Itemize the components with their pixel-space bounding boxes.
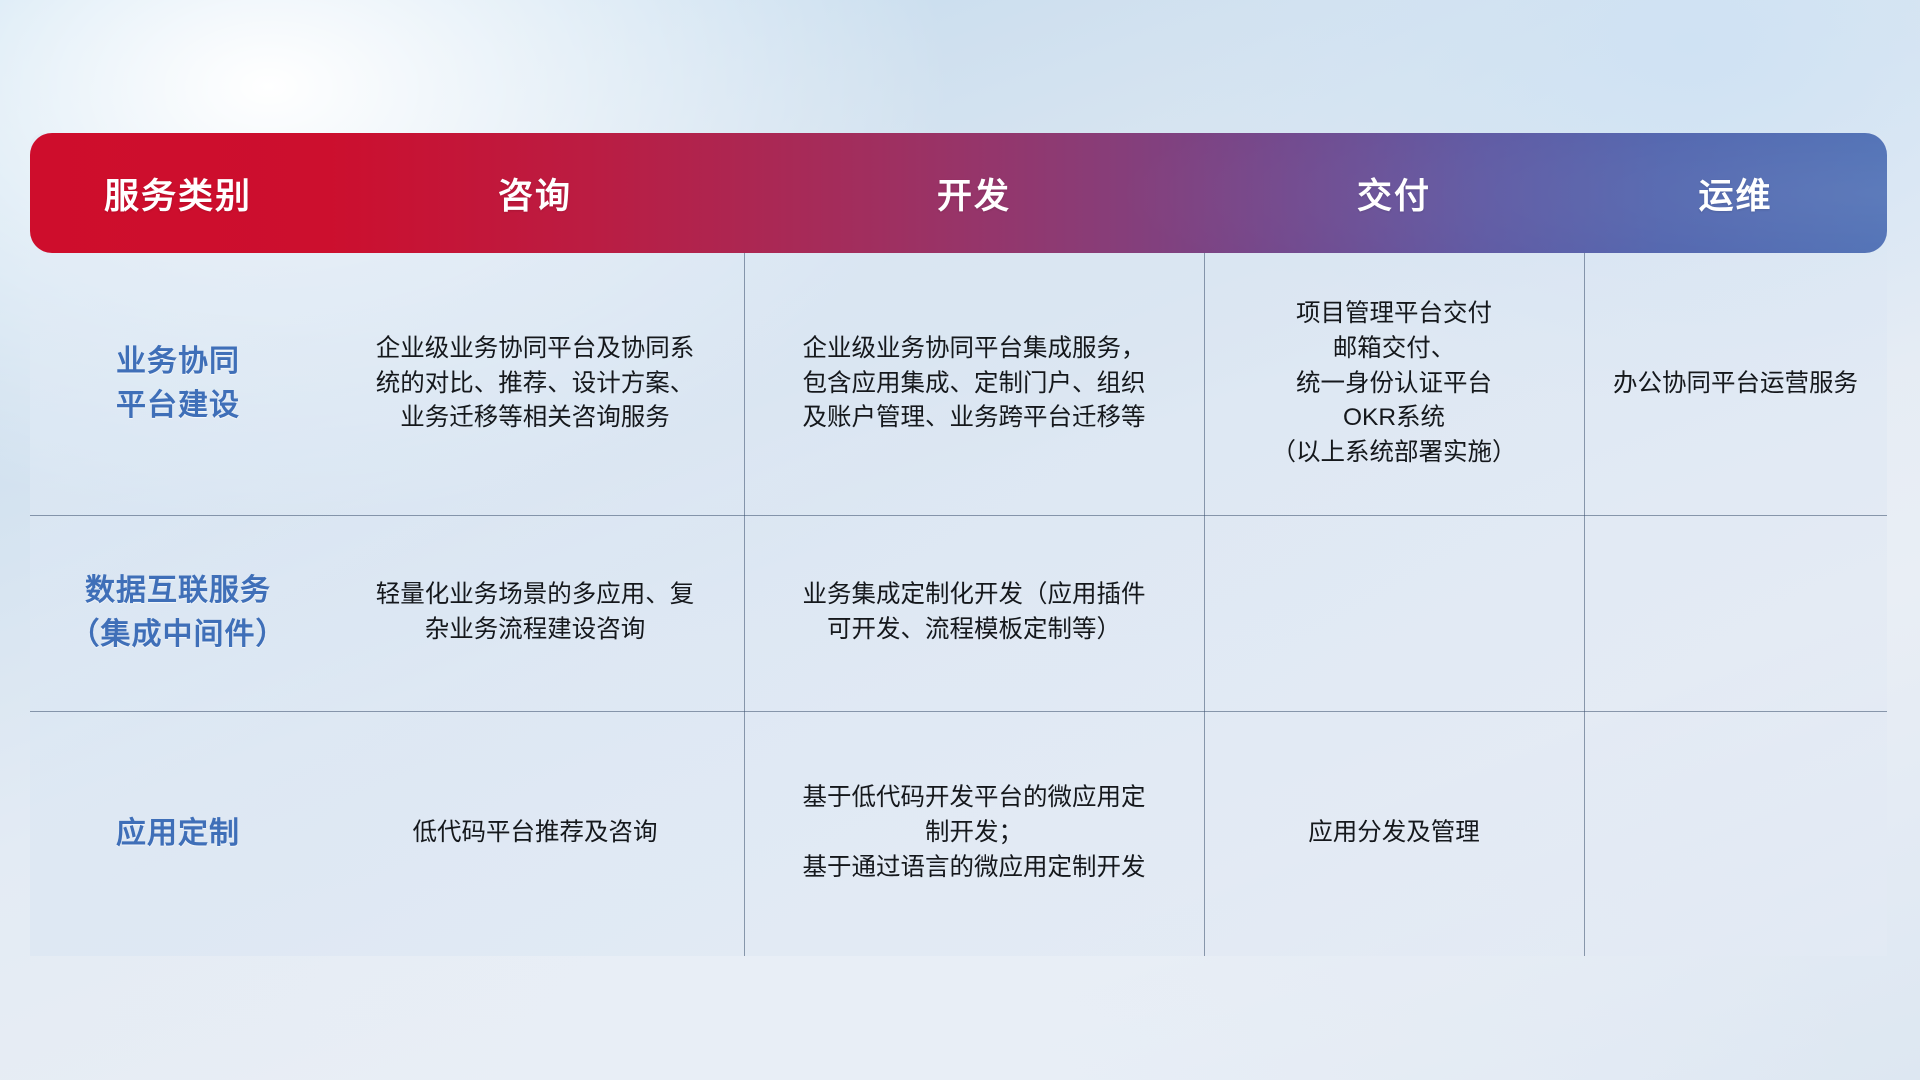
column-header-operations: 运维 bbox=[1584, 133, 1887, 253]
cell-text: 基于低代码开发平台的微应用定 制开发； 基于通过语言的微应用定制开发 bbox=[803, 781, 1146, 885]
cell-text: 应用分发及管理 bbox=[1308, 816, 1480, 851]
column-header-label: 交付 bbox=[1357, 168, 1431, 219]
table-header-row: 服务类别 咨询 开发 交付 运维 bbox=[30, 133, 1887, 253]
row-category-label: 业务协同 平台建设 bbox=[116, 340, 240, 428]
cell-text: 办公协同平台运营服务 bbox=[1613, 367, 1858, 402]
cell-delivery bbox=[1204, 515, 1584, 711]
row-category-cell: 业务协同 平台建设 bbox=[30, 253, 326, 515]
cell-consulting: 低代码平台推荐及咨询 bbox=[326, 711, 744, 956]
cell-text: 企业级业务协同平台集成服务， 包含应用集成、定制门户、组织 及账户管理、业务跨平… bbox=[803, 332, 1146, 436]
row-category-label: 应用定制 bbox=[116, 812, 240, 856]
cell-text: 企业级业务协同平台及协同系 统的对比、推荐、设计方案、 业务迁移等相关咨询服务 bbox=[376, 332, 695, 436]
row-category-label: 数据互联服务 （集成中间件） bbox=[70, 569, 287, 657]
column-header-delivery: 交付 bbox=[1204, 133, 1584, 253]
cell-development: 基于低代码开发平台的微应用定 制开发； 基于通过语言的微应用定制开发 bbox=[744, 711, 1204, 956]
cell-development: 业务集成定制化开发（应用插件 可开发、流程模板定制等） bbox=[744, 515, 1204, 711]
table-row: 应用定制 低代码平台推荐及咨询 基于低代码开发平台的微应用定 制开发； 基于通过… bbox=[30, 711, 1887, 956]
cell-text: 项目管理平台交付 邮箱交付、 统一身份认证平台 OKR系统 （以上系统部署实施） bbox=[1272, 297, 1517, 471]
cell-text: 轻量化业务场景的多应用、复 杂业务流程建设咨询 bbox=[376, 578, 695, 648]
column-header-consulting: 咨询 bbox=[326, 133, 744, 253]
cell-consulting: 企业级业务协同平台及协同系 统的对比、推荐、设计方案、 业务迁移等相关咨询服务 bbox=[326, 253, 744, 515]
cell-operations: 办公协同平台运营服务 bbox=[1584, 253, 1887, 515]
cell-operations bbox=[1584, 711, 1887, 956]
cell-text: 低代码平台推荐及咨询 bbox=[413, 816, 658, 851]
table-row: 数据互联服务 （集成中间件） 轻量化业务场景的多应用、复 杂业务流程建设咨询 业… bbox=[30, 515, 1887, 711]
column-header-label: 咨询 bbox=[498, 168, 572, 219]
table-body: 业务协同 平台建设 企业级业务协同平台及协同系 统的对比、推荐、设计方案、 业务… bbox=[30, 253, 1887, 956]
slide-canvas: 服务类别 咨询 开发 交付 运维 业务协同 平台建设 bbox=[0, 0, 1920, 1080]
service-matrix-table: 服务类别 咨询 开发 交付 运维 业务协同 平台建设 bbox=[30, 133, 1887, 956]
cell-consulting: 轻量化业务场景的多应用、复 杂业务流程建设咨询 bbox=[326, 515, 744, 711]
column-header-label: 运维 bbox=[1698, 168, 1772, 219]
table-row: 业务协同 平台建设 企业级业务协同平台及协同系 统的对比、推荐、设计方案、 业务… bbox=[30, 253, 1887, 515]
service-matrix-table-wrapper: 服务类别 咨询 开发 交付 运维 业务协同 平台建设 bbox=[30, 133, 1887, 956]
cell-text: 业务集成定制化开发（应用插件 可开发、流程模板定制等） bbox=[803, 578, 1146, 648]
cell-development: 企业级业务协同平台集成服务， 包含应用集成、定制门户、组织 及账户管理、业务跨平… bbox=[744, 253, 1204, 515]
row-category-cell: 应用定制 bbox=[30, 711, 326, 956]
cell-delivery: 应用分发及管理 bbox=[1204, 711, 1584, 956]
column-header-label: 服务类别 bbox=[104, 168, 252, 219]
row-category-cell: 数据互联服务 （集成中间件） bbox=[30, 515, 326, 711]
column-header-development: 开发 bbox=[744, 133, 1204, 253]
cell-delivery: 项目管理平台交付 邮箱交付、 统一身份认证平台 OKR系统 （以上系统部署实施） bbox=[1204, 253, 1584, 515]
column-header-label: 开发 bbox=[937, 168, 1011, 219]
column-header-service-category: 服务类别 bbox=[30, 133, 326, 253]
cell-operations bbox=[1584, 515, 1887, 711]
